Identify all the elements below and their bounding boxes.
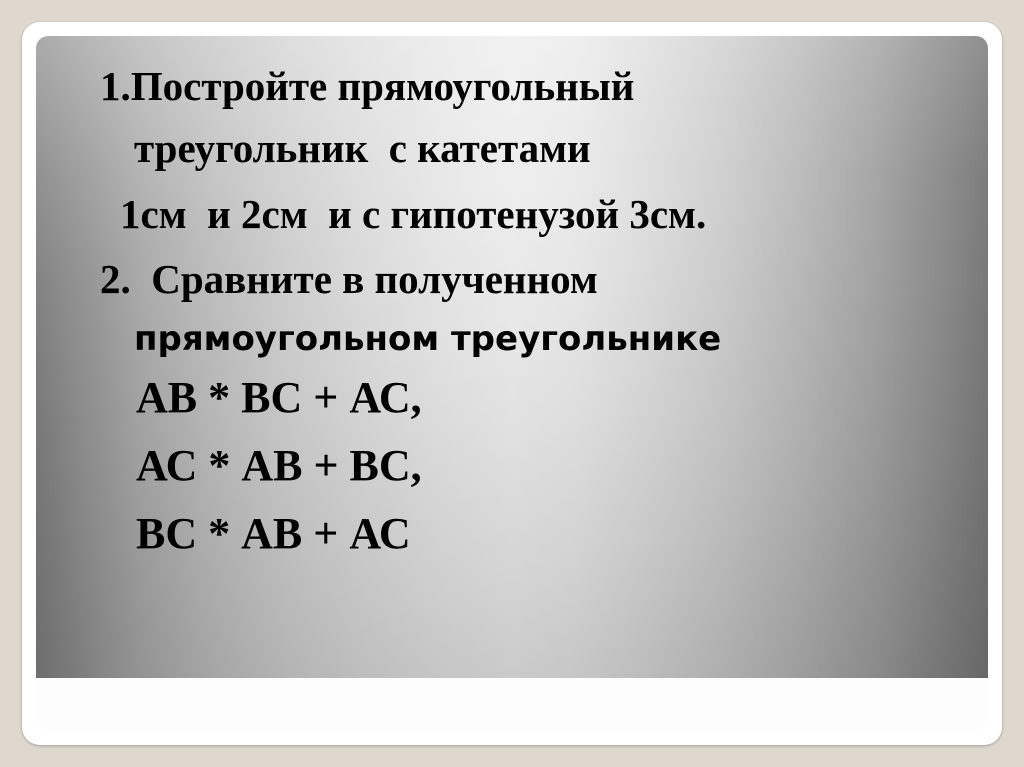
slide-frame: 1.Постройте прямоугольный треугольник с … (22, 22, 1002, 745)
slide-text-body: 1.Постройте прямоугольный треугольник с … (36, 36, 988, 556)
text-line-1: 1.Постройте прямоугольный (100, 66, 962, 107)
content-panel: 1.Постройте прямоугольный треугольник с … (36, 36, 988, 678)
text-line-3: 1см и 2см и с гипотенузой 3см. (120, 194, 962, 235)
slide-footer-panel (36, 678, 988, 731)
text-line-2: треугольник с катетами (134, 128, 962, 169)
text-line-7: АС * АВ + ВС, (136, 444, 962, 488)
slide-inner: 1.Постройте прямоугольный треугольник с … (36, 36, 988, 731)
text-line-8: ВС * АВ + АС (136, 512, 962, 556)
text-line-6: АВ * ВС + АС, (136, 376, 962, 420)
text-line-4: 2. Сравните в полученном (100, 259, 962, 300)
text-line-5: прямоугольном треугольнике (134, 322, 962, 356)
